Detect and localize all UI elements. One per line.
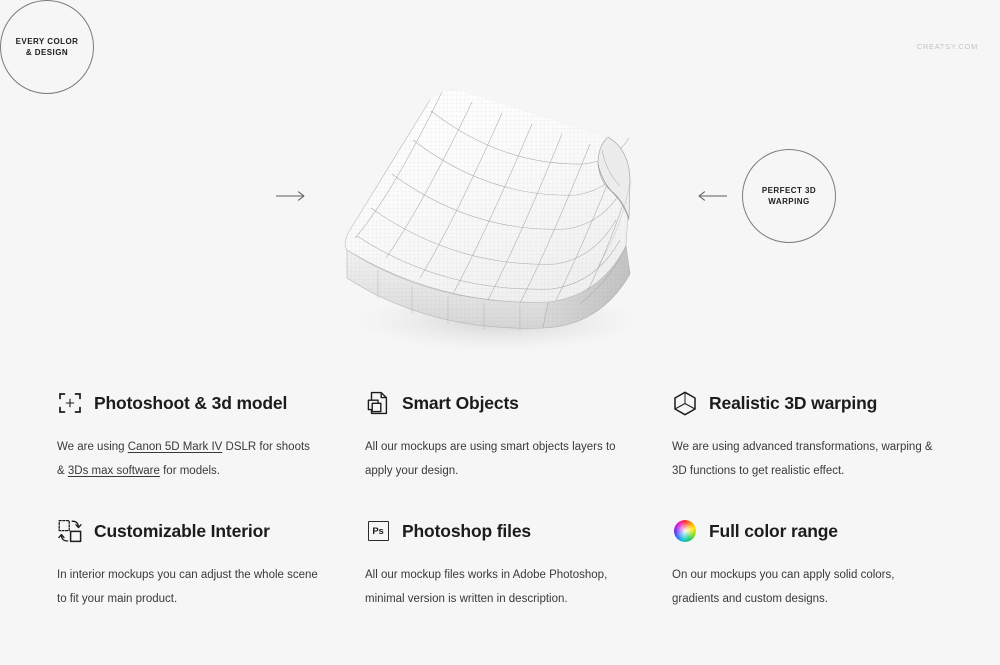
photoshop-ps-label: Ps — [368, 521, 389, 541]
hero-section: EVERY COLOR & DESIGN — [0, 0, 1000, 355]
badge-right-label: PERFECT 3D WARPING — [762, 185, 816, 208]
feature-header: Smart Objects — [365, 386, 672, 420]
feature-header: Photoshoot & 3d model — [57, 386, 365, 420]
inline-text: In interior mockups you can adjust the w… — [57, 569, 318, 605]
feature-full-color-range: Full color range On our mockups you can … — [672, 514, 947, 611]
color-wheel-icon — [672, 518, 698, 544]
feature-title: Photoshoot & 3d model — [94, 393, 287, 414]
inline-text: All our mockups are using smart objects … — [365, 441, 616, 477]
feature-realistic-3d-warping: Realistic 3D warping We are using advanc… — [672, 386, 947, 514]
smart-object-icon — [365, 390, 391, 416]
feature-description: All our mockup files works in Adobe Phot… — [365, 563, 627, 611]
cube-3d-icon — [672, 390, 698, 416]
feature-header: Full color range — [672, 514, 947, 548]
feature-customizable-interior: Customizable Interior In interior mockup… — [57, 514, 365, 611]
feature-description: We are using Canon 5D Mark IV DSLR for s… — [57, 435, 319, 483]
inline-text: We are using advanced transformations, w… — [672, 441, 933, 477]
swap-squares-icon — [57, 518, 83, 544]
badge-left-label: EVERY COLOR & DESIGN — [16, 36, 79, 59]
features-grid: Photoshoot & 3d model We are using Canon… — [57, 386, 947, 611]
arrow-right-icon — [276, 189, 306, 203]
feature-header: Customizable Interior — [57, 514, 365, 548]
viewfinder-focus-icon — [57, 390, 83, 416]
product-mockup-render — [330, 78, 660, 350]
arrow-left-icon — [697, 189, 727, 203]
inline-link[interactable]: Canon 5D Mark IV — [128, 441, 223, 453]
feature-title: Photoshop files — [402, 521, 531, 542]
inline-text: We are using — [57, 441, 128, 453]
feature-photoshop-files: Ps Photoshop files All our mockup files … — [365, 514, 672, 611]
feature-title: Full color range — [709, 521, 838, 542]
inline-text: All our mockup files works in Adobe Phot… — [365, 569, 607, 605]
feature-title: Customizable Interior — [94, 521, 270, 542]
feature-header: Ps Photoshop files — [365, 514, 672, 548]
color-wheel-swatch — [674, 520, 696, 542]
feature-smart-objects: Smart Objects All our mockups are using … — [365, 386, 672, 514]
feature-description: All our mockups are using smart objects … — [365, 435, 627, 483]
badge-perfect-3d-warping: PERFECT 3D WARPING — [742, 149, 836, 243]
inline-link[interactable]: 3Ds max software — [68, 465, 160, 477]
feature-description: We are using advanced transformations, w… — [672, 435, 934, 483]
badge-every-color-and-design: EVERY COLOR & DESIGN — [0, 0, 94, 94]
inline-text: for models. — [160, 465, 220, 477]
inline-text: On our mockups you can apply solid color… — [672, 569, 894, 605]
feature-title: Realistic 3D warping — [709, 393, 877, 414]
photoshop-ps-icon: Ps — [365, 518, 391, 544]
feature-photoshoot-3d-model: Photoshoot & 3d model We are using Canon… — [57, 386, 365, 514]
feature-title: Smart Objects — [402, 393, 519, 414]
feature-description: On our mockups you can apply solid color… — [672, 563, 934, 611]
feature-description: In interior mockups you can adjust the w… — [57, 563, 319, 611]
feature-header: Realistic 3D warping — [672, 386, 947, 420]
